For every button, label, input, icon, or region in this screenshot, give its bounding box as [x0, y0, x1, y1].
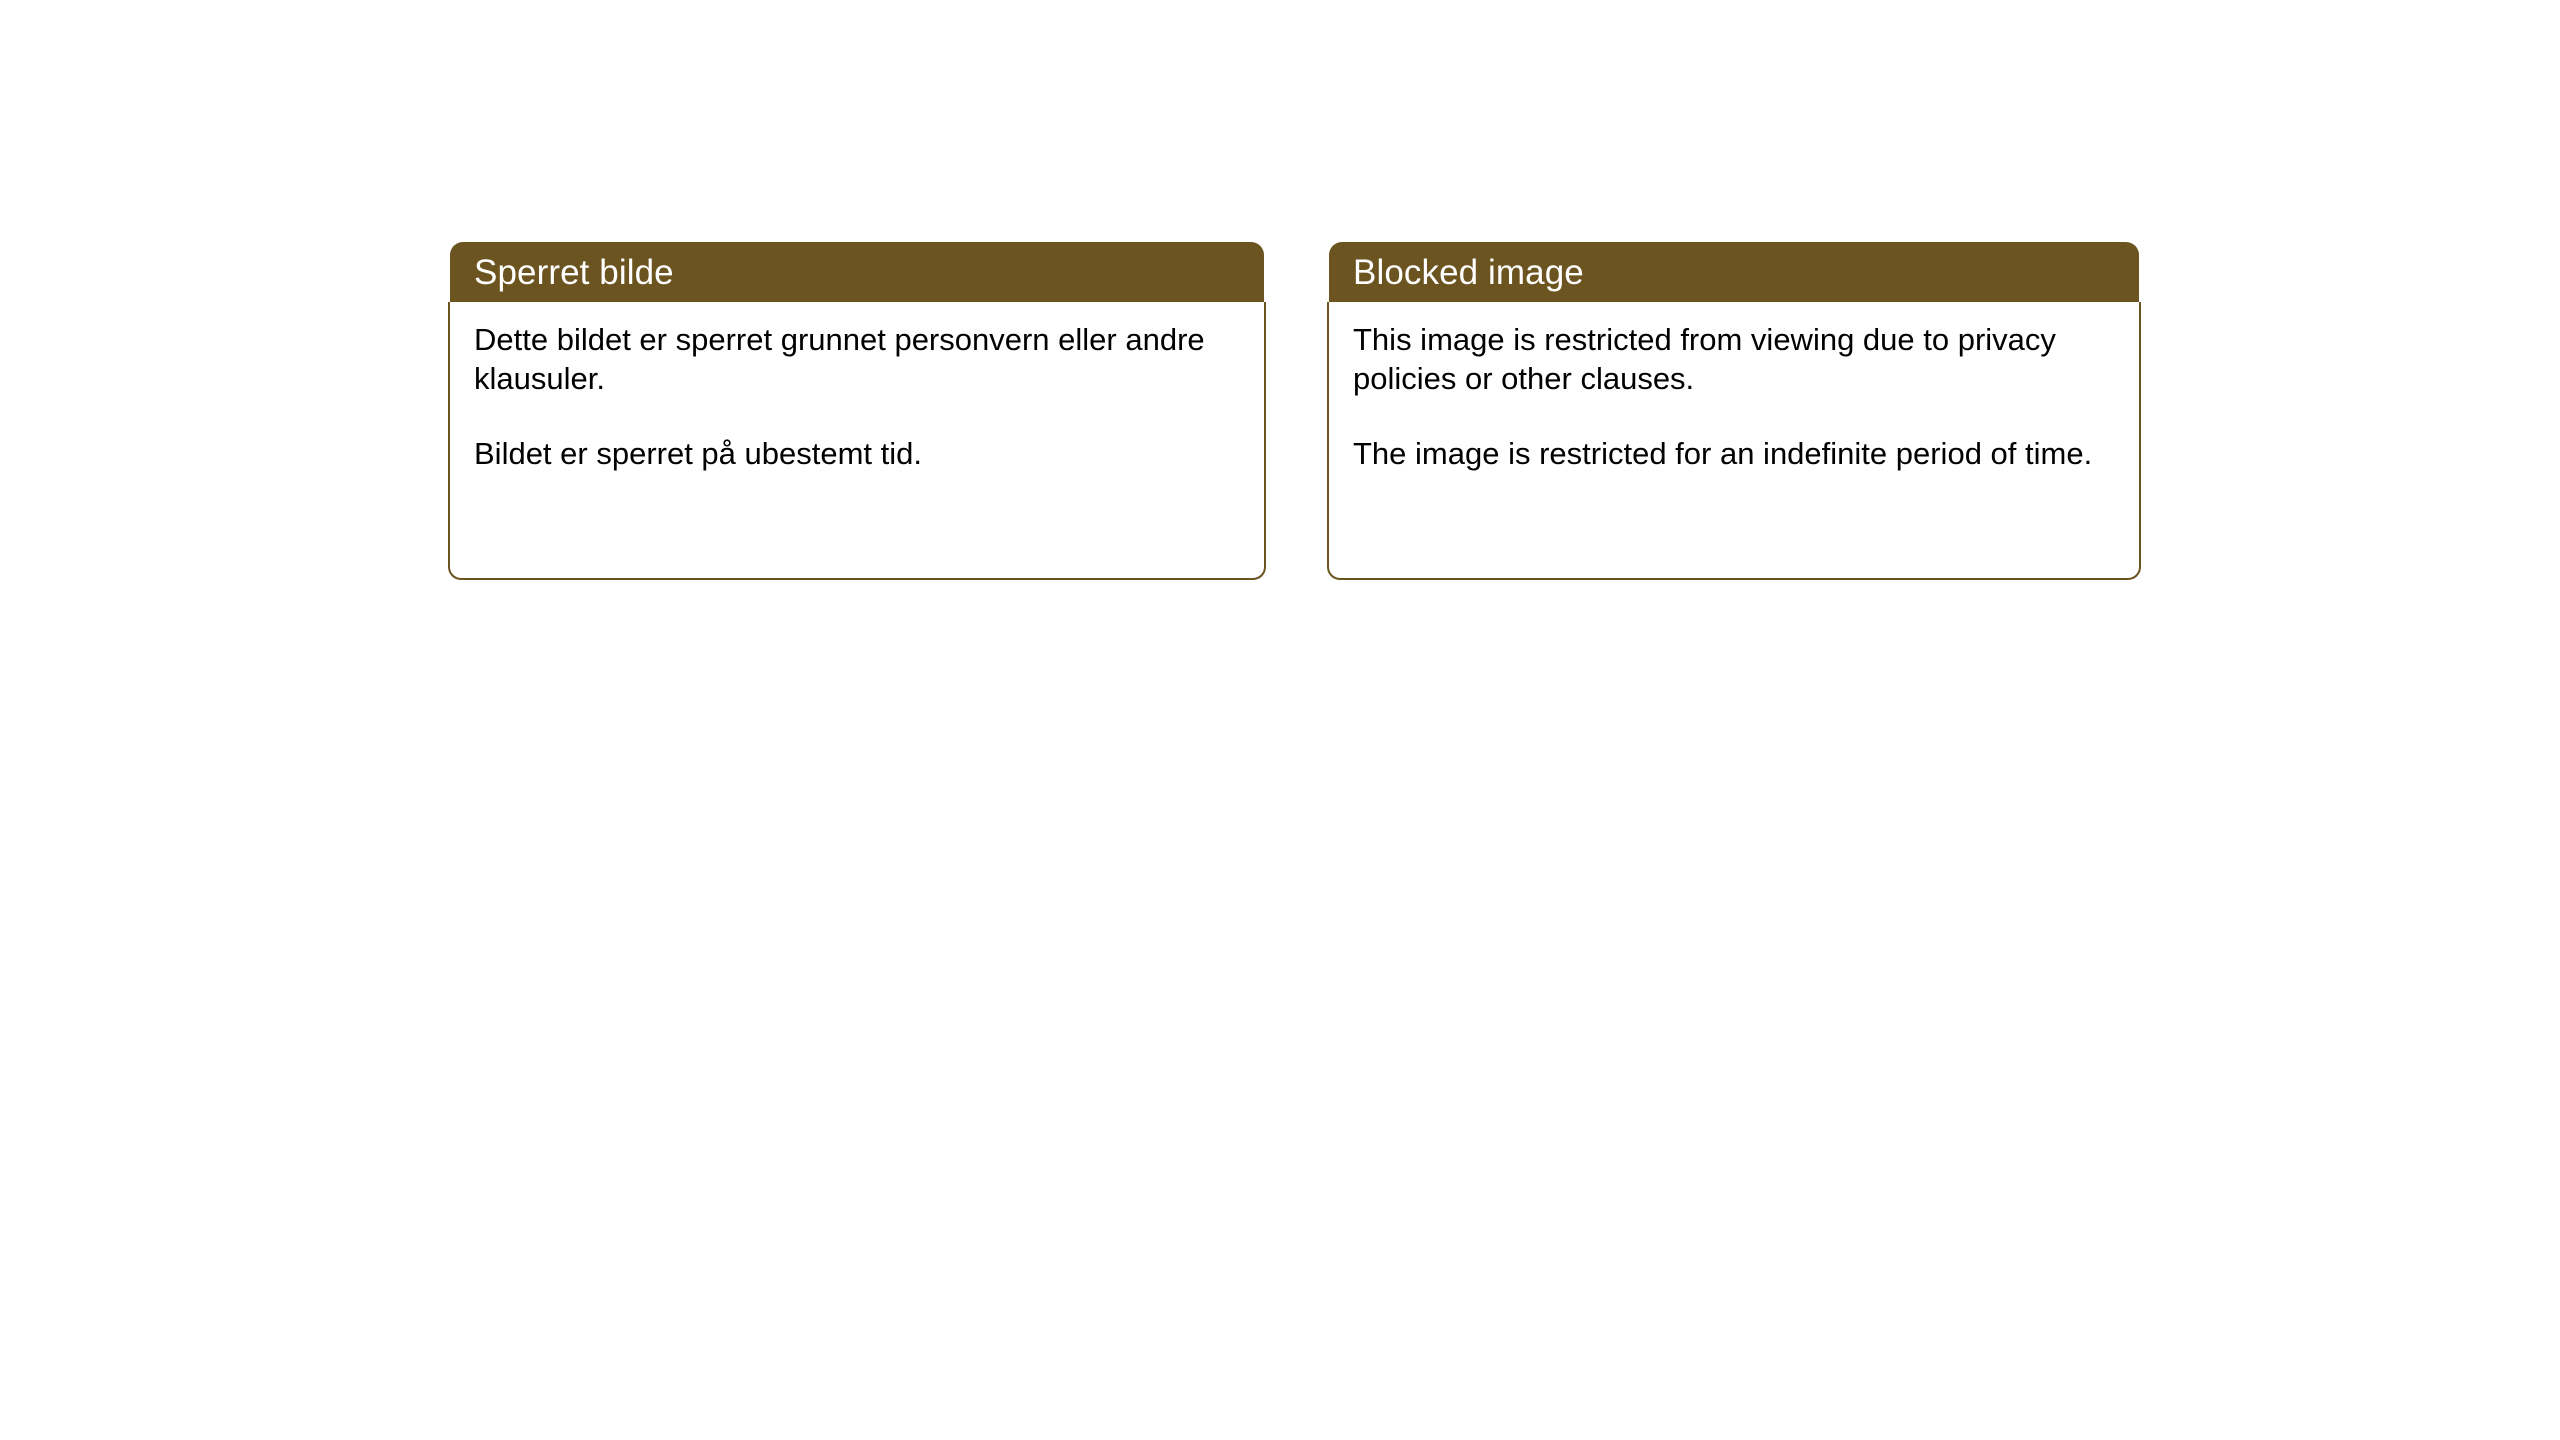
- card-paragraph-secondary-english: The image is restricted for an indefinit…: [1353, 434, 2117, 473]
- card-header-norwegian: Sperret bilde: [450, 242, 1264, 302]
- card-title-english: Blocked image: [1353, 255, 1584, 290]
- card-title-norwegian: Sperret bilde: [474, 255, 674, 290]
- paragraph-spacer: [474, 398, 1242, 434]
- card-paragraph-secondary-norwegian: Bildet er sperret på ubestemt tid.: [474, 434, 1242, 473]
- blocked-image-notice-card-english: Blocked image This image is restricted f…: [1327, 242, 2141, 580]
- card-body-english: This image is restricted from viewing du…: [1327, 302, 2141, 580]
- card-header-english: Blocked image: [1329, 242, 2139, 302]
- card-paragraph-primary-english: This image is restricted from viewing du…: [1353, 320, 2117, 398]
- card-paragraph-primary-norwegian: Dette bildet er sperret grunnet personve…: [474, 320, 1242, 398]
- card-body-norwegian: Dette bildet er sperret grunnet personve…: [448, 302, 1266, 580]
- blocked-image-notice-card-norwegian: Sperret bilde Dette bildet er sperret gr…: [448, 242, 1266, 580]
- page-canvas: Sperret bilde Dette bildet er sperret gr…: [0, 0, 2560, 1440]
- paragraph-spacer: [1353, 398, 2117, 434]
